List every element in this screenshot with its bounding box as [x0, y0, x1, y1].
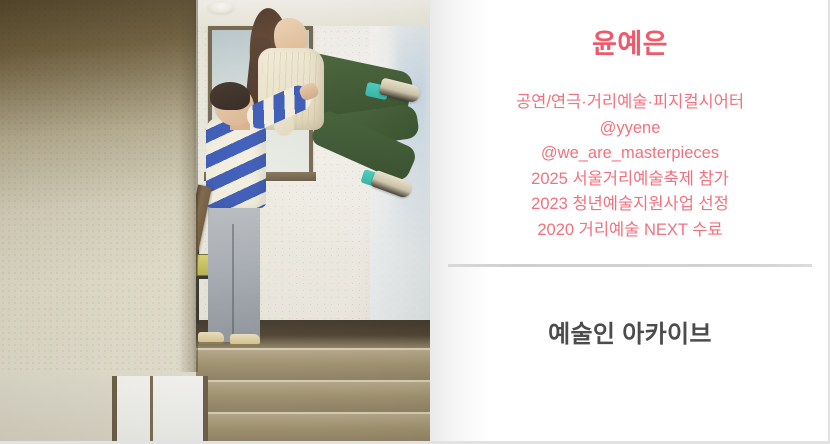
section-divider	[448, 264, 812, 267]
man-jeans	[208, 196, 260, 342]
artist-name: 윤예은	[430, 28, 830, 60]
man-hair	[210, 82, 250, 110]
foreground-wall	[0, 0, 196, 372]
artist-meta-credit-2020: 2020 거리예술 NEXT 수료	[430, 218, 830, 244]
stair-step	[196, 412, 430, 444]
foreground-wall-edge-shadow	[178, 0, 198, 372]
artist-archive-card: 윤예은 공연/연극·거리예술·피지컬시어터 @yyene @we_are_mas…	[0, 0, 830, 444]
ceiling-light-fixture	[208, 2, 234, 13]
stair-step	[196, 348, 430, 382]
artist-photo[interactable]	[0, 0, 430, 444]
artist-info-panel: 윤예은 공연/연극·거리예술·피지컬시어터 @yyene @we_are_mas…	[430, 0, 830, 444]
artist-meta-handle[interactable]: @yyene	[430, 116, 830, 142]
artist-meta-genre: 공연/연극·거리예술·피지컬시어터	[430, 90, 830, 116]
stair-step	[196, 380, 430, 414]
lower-window-mullion	[150, 376, 153, 444]
artist-meta-list: 공연/연극·거리예술·피지컬시어터 @yyene @we_are_masterp…	[430, 90, 830, 243]
artist-meta-credit-2025: 2025 서울거리예술축제 참가	[430, 167, 830, 193]
man-striped-sweater	[206, 118, 266, 208]
man-shoe	[230, 334, 260, 346]
man-shoe	[198, 332, 224, 344]
section-title: 예술인 아카이브	[430, 314, 830, 349]
artist-meta-team-handle[interactable]: @we_are_masterpieces	[430, 141, 830, 167]
artist-meta-credit-2023: 2023 청년예술지원사업 선정	[430, 192, 830, 218]
lower-level-window	[112, 376, 208, 444]
